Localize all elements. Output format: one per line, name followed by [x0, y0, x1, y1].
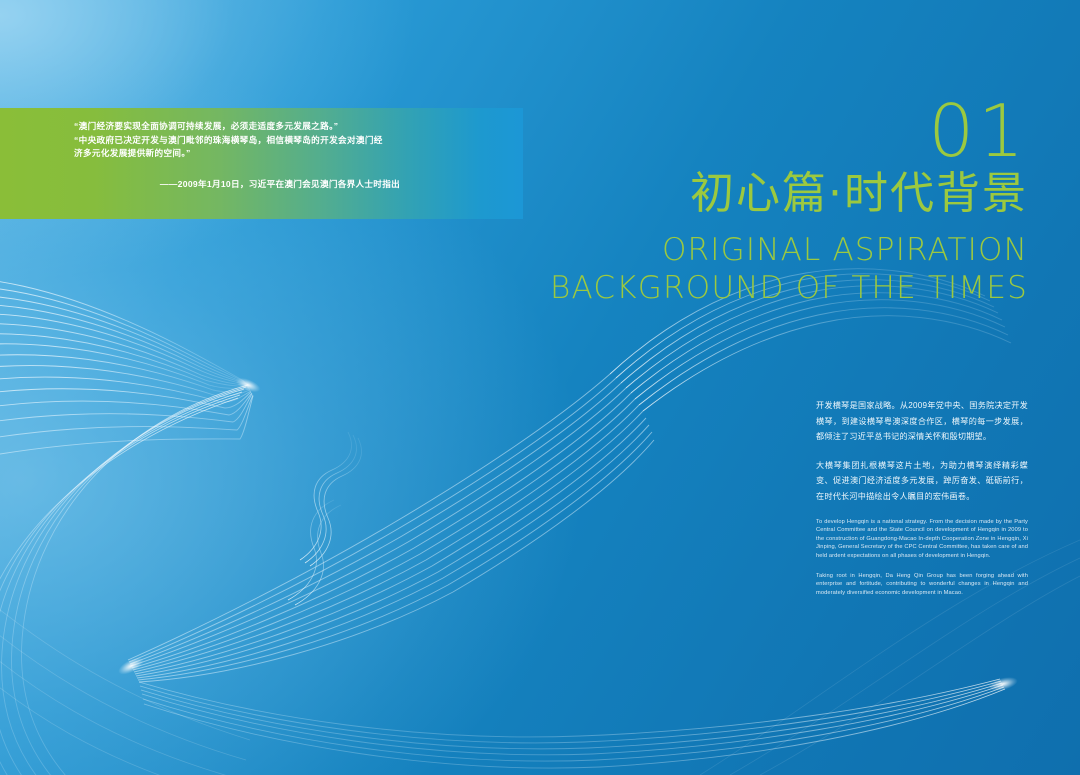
- quote-text-block: “澳门经济要实现全面协调可持续发展，必须走适度多元发展之路。” “中央政府已决定…: [74, 120, 504, 190]
- paragraph-cn-2: 大横琴集团扎根横琴这片土地，为助力横琴演绎精彩蝶变、促进澳门经济适度多元发展，踔…: [816, 458, 1028, 505]
- chapter-heading: 01 初心篇·时代背景 ORIGINAL ASPIRATION BACKGROU…: [508, 98, 1028, 307]
- paragraph-en-2: Taking root in Hengqin, Da Heng Qin Grou…: [816, 572, 1028, 598]
- quote-banner: “澳门经济要实现全面协调可持续发展，必须走适度多元发展之路。” “中央政府已决定…: [0, 108, 523, 219]
- quote-line-2: “中央政府已决定开发与澳门毗邻的珠海横琴岛，相信横琴岛的开发会对澳门经: [74, 134, 504, 148]
- quote-line-3: 济多元化发展提供新的空间。”: [74, 147, 504, 161]
- title-en-line-2: BACKGROUND OF THE TIMES: [508, 269, 1028, 307]
- chapter-cover-page: “澳门经济要实现全面协调可持续发展，必须走适度多元发展之路。” “中央政府已决定…: [0, 0, 1080, 775]
- paragraph-en-1: To develop Hengqin is a national strateg…: [816, 518, 1028, 561]
- paragraph-cn-1: 开发横琴是国家战略。从2009年党中央、国务院决定开发横琴，到建设横琴粤澳深度合…: [816, 398, 1028, 445]
- quote-attribution: ——2009年1月10日，习近平在澳门会见澳门各界人士时指出: [74, 178, 504, 190]
- page-title-english: ORIGINAL ASPIRATION BACKGROUND OF THE TI…: [508, 231, 1028, 307]
- page-title-chinese: 初心篇·时代背景: [508, 166, 1028, 222]
- chapter-number: 01: [508, 98, 1028, 164]
- body-copy-block: 开发横琴是国家战略。从2009年党中央、国务院决定开发横琴，到建设横琴粤澳深度合…: [816, 398, 1028, 608]
- title-en-line-1: ORIGINAL ASPIRATION: [508, 231, 1028, 269]
- quote-line-1: “澳门经济要实现全面协调可持续发展，必须走适度多元发展之路。”: [74, 120, 504, 134]
